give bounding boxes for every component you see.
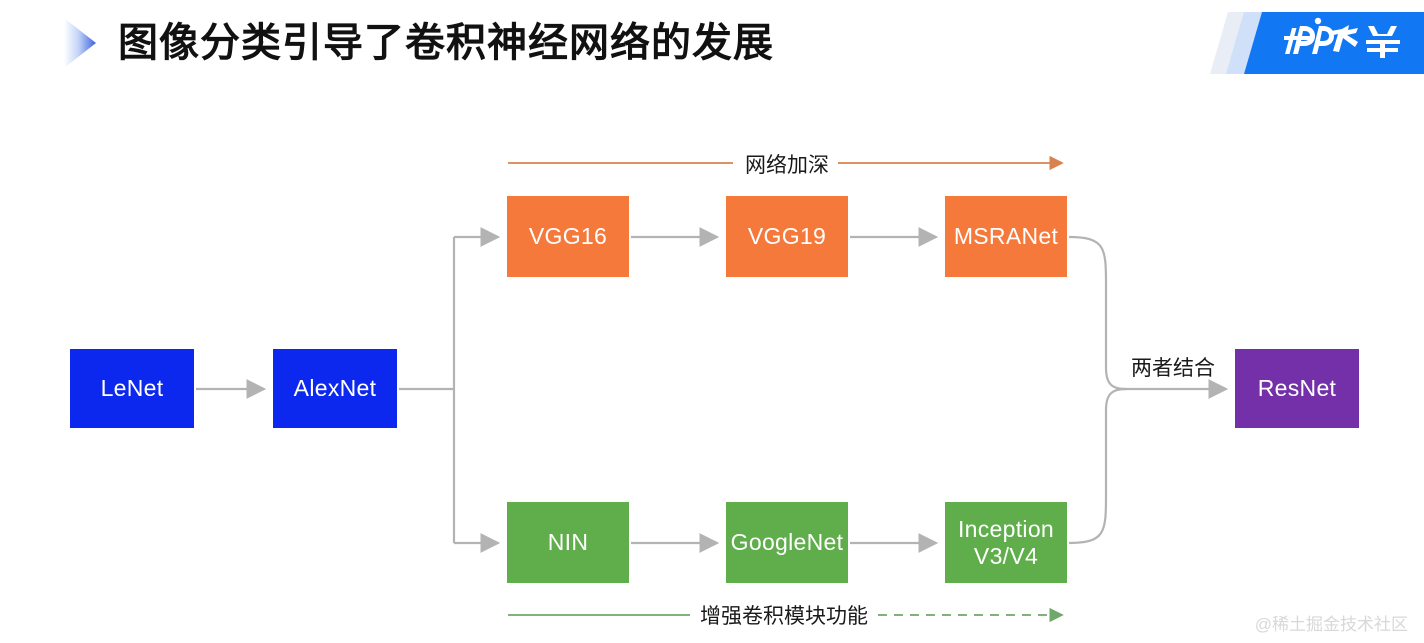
label-network-deepening: 网络加深: [745, 149, 829, 179]
node-nin-label: NIN: [548, 529, 589, 555]
node-msranet-label: MSRANet: [954, 223, 1058, 249]
node-vgg19[interactable]: VGG19: [726, 196, 848, 277]
page-header: 图像分类引导了卷积神经网络的发展: [0, 0, 1424, 88]
node-msranet[interactable]: MSRANet: [945, 196, 1067, 277]
node-googlenet-label: GoogleNet: [731, 529, 844, 555]
label-combine-both: 两者结合: [1131, 352, 1215, 382]
node-googlenet[interactable]: GoogleNet: [726, 502, 848, 583]
node-lenet-label: LeNet: [101, 375, 164, 401]
label-enhance-conv-module: 增强卷积模块功能: [700, 600, 868, 630]
node-alexnet[interactable]: AlexNet: [273, 349, 397, 428]
node-inception-v3-v4[interactable]: Inception V3/V4: [945, 502, 1067, 583]
paddlepaddle-logo: [1192, 10, 1424, 76]
node-inception-label-line1: Inception: [958, 516, 1054, 542]
node-inception-label: Inception V3/V4: [958, 516, 1054, 569]
node-resnet-label: ResNet: [1258, 375, 1337, 401]
node-nin[interactable]: NIN: [507, 502, 629, 583]
network-evolution-diagram: LeNet AlexNet VGG16 VGG19 MSRANet NIN Go…: [0, 88, 1424, 643]
triangle-right-icon: [62, 16, 98, 70]
node-resnet[interactable]: ResNet: [1235, 349, 1359, 428]
node-vgg16[interactable]: VGG16: [507, 196, 629, 277]
page-title: 图像分类引导了卷积神经网络的发展: [118, 17, 774, 69]
node-alexnet-label: AlexNet: [294, 375, 377, 401]
node-lenet[interactable]: LeNet: [70, 349, 194, 428]
watermark: @稀土掘金技术社区: [1255, 610, 1408, 635]
node-vgg19-label: VGG19: [748, 223, 826, 249]
node-inception-label-line2: V3/V4: [974, 543, 1038, 569]
node-vgg16-label: VGG16: [529, 223, 607, 249]
